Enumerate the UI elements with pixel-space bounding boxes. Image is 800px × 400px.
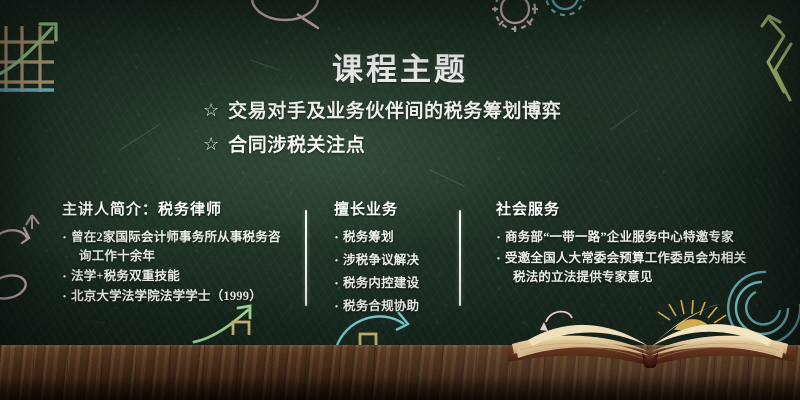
column-social-service: 社会服务 商务部“一带一路”企业服务中心特邀专家 受邀全国人大常委会预算工作委员…: [496, 198, 792, 289]
list-item-continuation: 询工作十余年: [71, 247, 302, 266]
column-divider: [305, 210, 307, 306]
list-item-text: 税务内控建设: [343, 276, 419, 290]
list-item-text: 北京大学法学院法学学士（1999）: [71, 289, 262, 303]
subtitle-bullet-text: 交易对手及业务伙伴间的税务筹划博弈: [228, 96, 561, 123]
open-book: [498, 296, 800, 368]
column-speaker-profile: 主讲人简介：税务律师 曾在2家国际会计师事务所从事税务咨 询工作十余年 法学+税…: [62, 198, 302, 307]
star-icon: ☆: [203, 135, 219, 153]
column-divider: [459, 210, 461, 306]
column-specialties: 擅长业务 税务筹划 涉税争议解决 税务内控建设 税务合规协助: [334, 198, 454, 320]
subtitle-bullet-list: ☆ 交易对手及业务伙伴间的税务筹划博弈 ☆ 合同涉税关注点: [203, 96, 763, 164]
list-item: 北京大学法学院法学学士（1999）: [62, 287, 302, 306]
speech-bubble-doodle: [252, 0, 318, 28]
list-item: 税务筹划: [334, 228, 454, 247]
column-heading: 擅长业务: [334, 198, 454, 219]
list-item-text: 涉税争议解决: [343, 253, 419, 267]
column-heading: 主讲人简介：税务律师: [62, 198, 302, 219]
bracket-doodle-right: [360, 334, 376, 345]
subtitle-bullet-text: 合同涉税关注点: [228, 130, 365, 157]
gear-doodle-cyan: [546, 0, 584, 15]
list-item: 法学+税务双重技能: [62, 267, 302, 286]
bracket-doodle: [233, 322, 249, 335]
list-item: 曾在2家国际会计师事务所从事税务咨 询工作十余年: [62, 228, 302, 266]
column-heading: 社会服务: [496, 198, 792, 219]
list-item-text: 受邀全国人大常委会预算工作委员会为相关: [505, 251, 746, 265]
subtitle-bullet-item: ☆ 合同涉税关注点: [203, 130, 763, 157]
list-item-continuation: 税法的立法提供专家意见: [505, 268, 792, 287]
column-bullet-list: 曾在2家国际会计师事务所从事税务咨 询工作十余年 法学+税务双重技能 北京大学法…: [62, 228, 302, 306]
list-item-text: 曾在2家国际会计师事务所从事税务咨: [71, 230, 281, 244]
list-item: 受邀全国人大常委会预算工作委员会为相关 税法的立法提供专家意见: [496, 249, 792, 287]
subtitle-bullet-item: ☆ 交易对手及业务伙伴间的税务筹划博弈: [203, 96, 763, 123]
list-item-text: 法学+税务双重技能: [71, 269, 180, 283]
list-item: 商务部“一带一路”企业服务中心特邀专家: [496, 228, 792, 247]
star-icon: ☆: [203, 101, 219, 119]
list-item: 涉税争议解决: [334, 251, 454, 270]
list-item: 税务内控建设: [334, 274, 454, 293]
column-bullet-list: 税务筹划 涉税争议解决 税务内控建设 税务合规协助: [334, 228, 454, 316]
presentation-slide: 课程主题 ☆ 交易对手及业务伙伴间的税务筹划博弈 ☆ 合同涉税关注点 主讲人简介…: [0, 0, 800, 400]
list-item: 税务合规协助: [334, 297, 454, 316]
slide-title: 课程主题: [0, 44, 800, 89]
list-item-text: 税务筹划: [343, 230, 394, 244]
list-item-text: 税务合规协助: [343, 299, 419, 313]
column-bullet-list: 商务部“一带一路”企业服务中心特邀专家 受邀全国人大常委会预算工作委员会为相关 …: [496, 228, 792, 287]
gear-doodle-pink: [492, 0, 538, 32]
list-item-text: 商务部“一带一路”企业服务中心特邀专家: [505, 230, 734, 244]
